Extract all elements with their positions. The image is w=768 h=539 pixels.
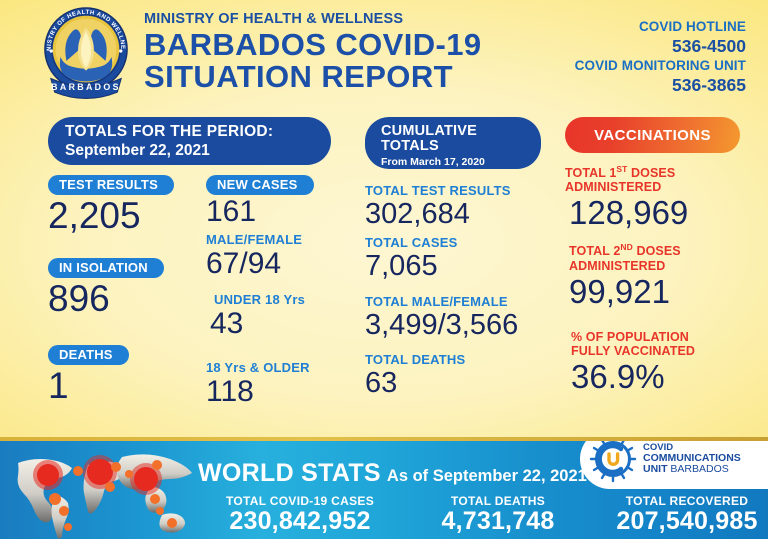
new-cases-value: 161 — [206, 195, 356, 228]
ccu-line3-light: BARBADOS — [670, 463, 728, 475]
cumulative-totals-section: CUMULATIVE TOTALS From March 17, 2020 TO… — [365, 117, 555, 400]
virus-c-logo-icon — [588, 441, 638, 484]
vaccinations-section: VACCINATIONS TOTAL 1ST DOSES ADMINISTERE… — [565, 117, 760, 395]
dose1-value: 128,969 — [565, 195, 760, 231]
covid-hotline-number: 536-4500 — [575, 36, 746, 57]
period-left-column: TEST RESULTS 2,205 IN ISOLATION 896 DEAT… — [48, 175, 200, 406]
total-male-female-value: 3,499/3,566 — [365, 309, 555, 341]
under-18-value: 43 — [206, 307, 356, 340]
world-stats-heading: WORLD STATSAs of September 22, 2021 — [198, 459, 587, 488]
period-right-column: NEW CASES 161 MALE/FEMALE 67/94 UNDER 18… — [206, 175, 356, 408]
dose1-label-part1: TOTAL 1 — [565, 166, 616, 180]
world-map-graphic — [4, 443, 200, 539]
total-test-results-label: TOTAL TEST RESULTS — [365, 183, 555, 198]
deaths-label: DEATHS — [48, 345, 129, 365]
world-total-deaths: TOTAL DEATHS 4,731,748 — [418, 494, 578, 536]
total-deaths-value: 63 — [365, 367, 555, 399]
seal-banner-text: BARBADOS — [51, 82, 121, 92]
cumulative-banner: CUMULATIVE TOTALS From March 17, 2020 — [365, 117, 541, 169]
ministry-of-health-seal-logo: MINISTRY OF HEALTH AND WELLNESS BARBADOS — [37, 6, 135, 100]
page-title-line1: BARBADOS COVID-19 — [144, 27, 482, 62]
world-total-deaths-label: TOTAL DEATHS — [418, 494, 578, 508]
dose2-label-part1: TOTAL 2 — [569, 245, 620, 259]
test-results-label: TEST RESULTS — [48, 175, 174, 195]
world-total-recovered-value: 207,540,985 — [592, 507, 768, 536]
dose1-label-part2: DOSES — [627, 166, 675, 180]
dose2-label: TOTAL 2ND DOSES ADMINISTERED — [569, 243, 760, 272]
total-test-results-value: 302,684 — [365, 198, 555, 230]
dose2-label-part3: ADMINISTERED — [569, 259, 760, 273]
covid-hotline-label: COVID HOTLINE — [575, 19, 746, 36]
covid-situation-report-infographic: MINISTRY OF HEALTH AND WELLNESS BARBADOS… — [0, 0, 768, 539]
in-isolation-value: 896 — [48, 279, 200, 319]
over-18-value: 118 — [206, 375, 356, 408]
cumulative-banner-subtitle: From March 17, 2020 — [381, 156, 485, 168]
pct-vaccinated-label-line2: FULLY VACCINATED — [571, 344, 760, 358]
over-18-label: 18 Yrs & OLDER — [206, 360, 356, 375]
under-18-label: UNDER 18 Yrs — [206, 292, 356, 307]
world-total-recovered-label: TOTAL RECOVERED — [592, 494, 768, 508]
world-total-cases-value: 230,842,952 — [196, 507, 404, 536]
cumulative-banner-line2: TOTALS — [381, 139, 439, 154]
world-stats-title: WORLD STATS — [198, 459, 381, 487]
world-total-cases: TOTAL COVID-19 CASES 230,842,952 — [196, 494, 404, 536]
cumulative-banner-line1: CUMULATIVE — [381, 124, 477, 139]
in-isolation-label: IN ISOLATION — [48, 258, 164, 278]
ccu-badge-text: COVID COMMUNICATIONS UNIT BARBADOS — [643, 443, 741, 476]
dose2-value: 99,921 — [569, 274, 760, 310]
period-banner-line2: September 22, 2021 — [65, 142, 210, 160]
dose2-label-part2: DOSES — [633, 245, 681, 259]
total-cases-label: TOTAL CASES — [365, 235, 555, 250]
world-stats-date: As of September 22, 2021 — [387, 467, 587, 485]
pct-vaccinated-label: % OF POPULATION FULLY VACCINATED — [571, 330, 760, 358]
male-female-value: 67/94 — [206, 247, 356, 280]
hotline-block: COVID HOTLINE 536-4500 COVID MONITORING … — [575, 19, 746, 97]
dose1-label: TOTAL 1ST DOSES ADMINISTERED — [565, 165, 760, 194]
world-total-cases-label: TOTAL COVID-19 CASES — [196, 494, 404, 508]
new-cases-label: NEW CASES — [206, 175, 314, 195]
pct-vaccinated-value: 36.9% — [571, 359, 760, 395]
pct-vaccinated-label-line1: % OF POPULATION — [571, 330, 760, 344]
period-banner: TOTALS FOR THE PERIOD: September 22, 202… — [48, 117, 331, 165]
ministry-name: MINISTRY OF HEALTH & WELLNESS — [144, 11, 403, 27]
dose1-label-part3: ADMINISTERED — [565, 180, 760, 194]
monitoring-unit-number: 536-3865 — [575, 75, 746, 96]
vaccinations-banner: VACCINATIONS — [565, 117, 740, 153]
world-total-recovered: TOTAL RECOVERED 207,540,985 — [592, 494, 768, 536]
total-male-female-label: TOTAL MALE/FEMALE — [365, 294, 555, 309]
ccu-line3-bold: UNIT — [643, 463, 670, 475]
deaths-value: 1 — [48, 366, 200, 406]
total-cases-value: 7,065 — [365, 250, 555, 282]
ccu-line3: UNIT BARBADOS — [643, 464, 741, 475]
monitoring-unit-label: COVID MONITORING UNIT — [575, 58, 746, 75]
dose1-label-superscript: ST — [616, 164, 627, 174]
covid-communications-unit-badge: COVID COMMUNICATIONS UNIT BARBADOS — [580, 441, 768, 489]
world-stats-footer: WORLD STATSAs of September 22, 2021 TOTA… — [0, 441, 768, 539]
male-female-label: MALE/FEMALE — [206, 232, 356, 247]
page-title: BARBADOS COVID-19 SITUATION REPORT — [144, 29, 482, 93]
world-total-deaths-value: 4,731,748 — [418, 507, 578, 536]
period-totals-section: TOTALS FOR THE PERIOD: September 22, 202… — [48, 117, 348, 405]
dose2-label-superscript: ND — [620, 242, 632, 252]
page-title-line2: SITUATION REPORT — [144, 61, 482, 93]
test-results-value: 2,205 — [48, 196, 200, 236]
period-banner-line1: TOTALS FOR THE PERIOD: — [65, 123, 273, 141]
report-header: MINISTRY OF HEALTH AND WELLNESS BARBADOS… — [0, 0, 768, 104]
total-deaths-label: TOTAL DEATHS — [365, 352, 555, 367]
